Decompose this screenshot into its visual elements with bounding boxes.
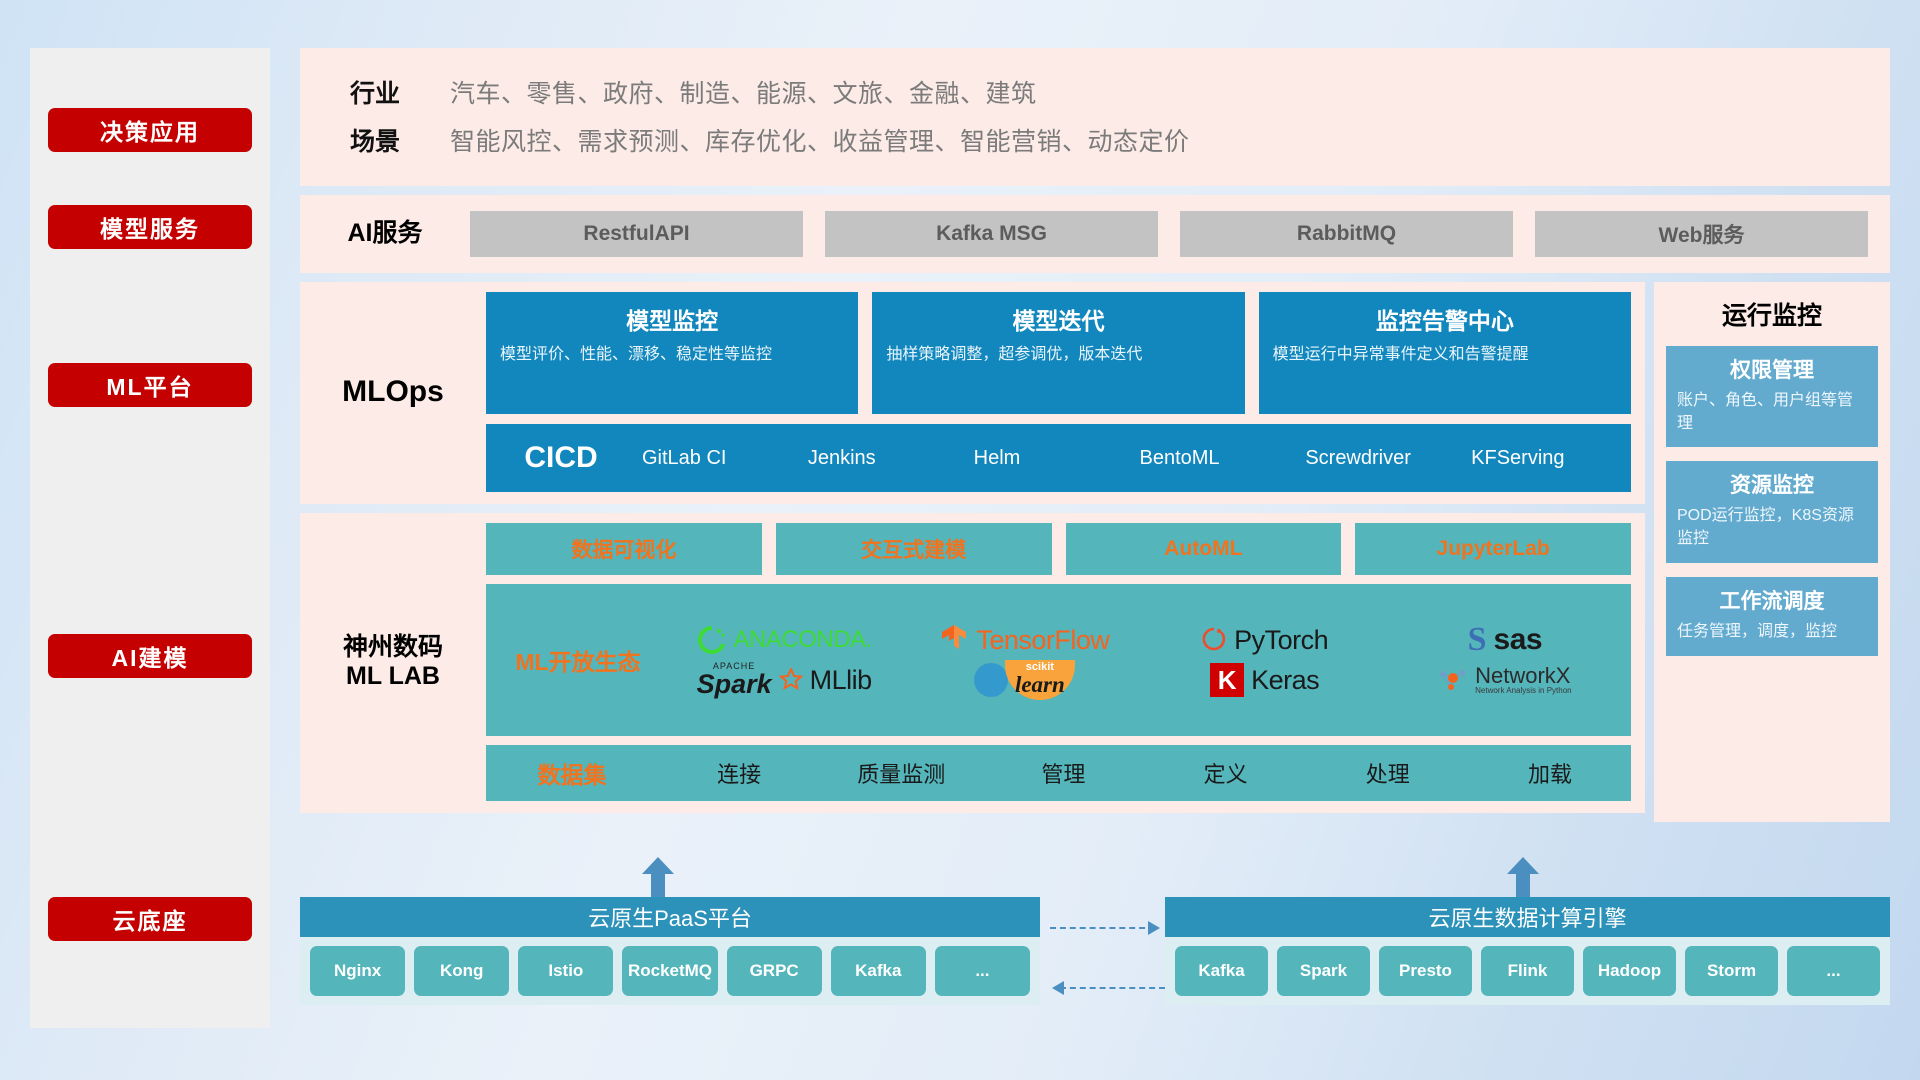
layer-chip-ai-modeling[interactable]: AI建模 xyxy=(48,634,252,678)
application-tag-list: 行业 汽车、零售、政府、制造、能源、文旅、金融、建筑 场景 智能风控、需求预测、… xyxy=(300,68,1890,164)
runtime-monitoring-title: 运行监控 xyxy=(1666,296,1878,332)
compute-up-arrow-icon xyxy=(1505,857,1541,897)
mlops-label: MLOps xyxy=(300,374,486,409)
cicd-item-gitlab-ci[interactable]: GitLab CI xyxy=(636,448,802,469)
cloud-chip-rocketmq[interactable]: RocketMQ xyxy=(622,946,717,996)
cloud-paas-chip-list: Nginx Kong Istio RocketMQ GRPC Kafka ... xyxy=(300,937,1040,1005)
architecture-stack: 行业 汽车、零售、政府、制造、能源、文旅、金融、建筑 场景 智能风控、需求预测、… xyxy=(300,48,1890,822)
connector-arrow-left-icon xyxy=(1048,980,1064,996)
cloud-chip-more-compute[interactable]: ... xyxy=(1787,946,1880,996)
cloud-compute-chip-list: Kafka Spark Presto Flink Hadoop Storm ..… xyxy=(1165,937,1890,1005)
scenario-values: 智能风控、需求预测、库存优化、收益管理、智能营销、动态定价 xyxy=(450,122,1190,158)
ai-modeling-content: 数据可视化 交互式建模 AutoML JupyterLab ML开放生态 xyxy=(486,523,1631,801)
pytorch-logo-text: PyTorch xyxy=(1234,625,1328,656)
sas-mark-icon: S xyxy=(1468,621,1487,659)
layer-chip-model-service[interactable]: 模型服务 xyxy=(48,205,252,249)
cloud-chip-kafka-compute[interactable]: Kafka xyxy=(1175,946,1268,996)
cloud-chip-kafka[interactable]: Kafka xyxy=(831,946,926,996)
scenario-row: 场景 智能风控、需求预测、库存优化、收益管理、智能营销、动态定价 xyxy=(300,116,1890,164)
scikit-blue-circle-icon xyxy=(974,663,1008,697)
cloud-chip-flink[interactable]: Flink xyxy=(1481,946,1574,996)
mlops-card-desc: 模型运行中异常事件定义和告警提醒 xyxy=(1273,344,1617,367)
modeling-tool-list: 数据可视化 交互式建模 AutoML JupyterLab xyxy=(486,523,1631,575)
sas-logo-text: sas xyxy=(1494,623,1543,657)
platform-and-modeling-area: MLOps 模型监控 模型评价、性能、漂移、稳定性等监控 模型迭代 抽样策略调整… xyxy=(300,282,1890,822)
ai-service-chip-web[interactable]: Web服务 xyxy=(1535,211,1868,257)
cicd-item-list: GitLab CI Jenkins Helm BentoML Screwdriv… xyxy=(636,448,1631,469)
tool-chip-interactive-modeling[interactable]: 交互式建模 xyxy=(776,523,1052,575)
mlops-band: MLOps 模型监控 模型评价、性能、漂移、稳定性等监控 模型迭代 抽样策略调整… xyxy=(300,282,1645,504)
mlops-card-desc: 模型评价、性能、漂移、稳定性等监控 xyxy=(500,344,844,367)
mlops-card-model-monitoring[interactable]: 模型监控 模型评价、性能、漂移、稳定性等监控 xyxy=(486,292,858,414)
ml-lab-label: 神州数码 ML LAB xyxy=(300,633,486,692)
cloud-chip-istio[interactable]: Istio xyxy=(518,946,613,996)
mlops-card-desc: 抽样策略调整，超参调优，版本迭代 xyxy=(886,344,1230,367)
ops-card-title: 权限管理 xyxy=(1677,354,1867,384)
mllib-logo-text: MLlib xyxy=(810,665,872,696)
dataset-title: 数据集 xyxy=(486,756,658,790)
networkx-logo-text: NetworkX xyxy=(1475,664,1572,687)
mlops-content: 模型监控 模型评价、性能、漂移、稳定性等监控 模型迭代 抽样策略调整，超参调优，… xyxy=(486,292,1631,492)
platform-and-modeling-column: MLOps 模型监控 模型评价、性能、漂移、稳定性等监控 模型迭代 抽样策略调整… xyxy=(300,282,1645,822)
scikit-learn-logo: scikit learn xyxy=(974,660,1075,700)
anaconda-logo-text: ANACONDA. xyxy=(734,626,872,654)
networkx-logo: NetworkX Network Analysis in Python xyxy=(1438,664,1572,695)
dataset-item-load[interactable]: 加载 xyxy=(1469,757,1631,789)
layer-chip-ml-platform[interactable]: ML平台 xyxy=(48,363,252,407)
ai-service-band: AI服务 RestfulAPI Kafka MSG RabbitMQ Web服务 xyxy=(300,195,1890,273)
cloud-chip-nginx[interactable]: Nginx xyxy=(310,946,405,996)
sas-logo: S sas xyxy=(1468,621,1542,659)
industry-label: 行业 xyxy=(300,74,450,110)
connector-dash-top xyxy=(1050,927,1155,929)
networkx-mark-icon xyxy=(1438,666,1468,694)
connector-arrow-right-icon xyxy=(1148,920,1164,936)
ai-service-chip-kafka-msg[interactable]: Kafka MSG xyxy=(825,211,1158,257)
cloud-chip-spark[interactable]: Spark xyxy=(1277,946,1370,996)
mlops-card-list: 模型监控 模型评价、性能、漂移、稳定性等监控 模型迭代 抽样策略调整，超参调优，… xyxy=(486,292,1631,414)
dataset-item-list: 连接 质量监测 管理 定义 处理 加载 xyxy=(658,757,1631,789)
cloud-group-paas: 云原生PaaS平台 Nginx Kong Istio RocketMQ GRPC… xyxy=(300,897,1040,1005)
ai-service-label: AI服务 xyxy=(300,219,470,249)
tensorflow-logo-text: TensorFlow xyxy=(976,625,1109,656)
anaconda-logo: ANACONDA. xyxy=(697,625,872,655)
tensorflow-mark-icon xyxy=(939,623,969,657)
cicd-item-helm[interactable]: Helm xyxy=(968,448,1134,469)
cicd-item-bentoml[interactable]: BentoML xyxy=(1133,448,1299,469)
cloud-group-compute: 云原生数据计算引擎 Kafka Spark Presto Flink Hadoo… xyxy=(1165,897,1890,1005)
ops-card-desc: 账户、角色、用户组等管理 xyxy=(1677,390,1867,435)
layer-rail: 决策应用 模型服务 ML平台 AI建模 云底座 xyxy=(30,48,270,1028)
ops-card-desc: 任务管理，调度，监控 xyxy=(1677,621,1867,644)
dataset-bar: 数据集 连接 质量监测 管理 定义 处理 加载 xyxy=(486,745,1631,801)
learn-logo-text: learn xyxy=(1015,673,1065,696)
scenario-label: 场景 xyxy=(300,122,450,158)
cloud-paas-title: 云原生PaaS平台 xyxy=(300,897,1040,937)
mlops-card-title: 模型监控 xyxy=(500,302,844,336)
mlops-card-title: 监控告警中心 xyxy=(1273,302,1617,336)
cicd-bar: CICD GitLab CI Jenkins Helm BentoML Scre… xyxy=(486,424,1631,492)
ml-ecosystem-bar: ML开放生态 ANACONDA. xyxy=(486,584,1631,736)
connector-dash-bottom xyxy=(1060,987,1165,989)
keras-mark-icon: K xyxy=(1210,663,1244,697)
spark-star-icon xyxy=(779,668,803,692)
cicd-item-kfserving[interactable]: KFServing xyxy=(1465,448,1631,469)
industry-row: 行业 汽车、零售、政府、制造、能源、文旅、金融、建筑 xyxy=(300,68,1890,116)
spark-logo-text: Spark xyxy=(697,671,772,698)
ops-card-desc: POD运行监控，K8S资源监控 xyxy=(1677,505,1867,550)
dataset-item-process[interactable]: 处理 xyxy=(1307,757,1469,789)
cloud-chip-grpc[interactable]: GRPC xyxy=(727,946,822,996)
anaconda-mark-icon xyxy=(697,625,727,655)
networkx-subtitle: Network Analysis in Python xyxy=(1475,687,1572,695)
ops-card-title: 工作流调度 xyxy=(1677,585,1867,615)
mlops-card-title: 模型迭代 xyxy=(886,302,1230,336)
cicd-item-jenkins[interactable]: Jenkins xyxy=(802,448,968,469)
ai-modeling-band: 神州数码 ML LAB 数据可视化 交互式建模 AutoML JupyterLa… xyxy=(300,513,1645,813)
cloud-chip-storm[interactable]: Storm xyxy=(1685,946,1778,996)
dataset-item-quality-monitor[interactable]: 质量监测 xyxy=(820,757,982,789)
ml-lab-label-line1: 神州数码 xyxy=(300,633,486,663)
cloud-chip-kong[interactable]: Kong xyxy=(414,946,509,996)
ai-service-chip-list: RestfulAPI Kafka MSG RabbitMQ Web服务 xyxy=(470,211,1868,257)
spark-mllib-logo: APACHE Spark MLlib xyxy=(697,662,872,698)
paas-up-arrow-icon xyxy=(640,857,676,897)
cloud-chip-presto[interactable]: Presto xyxy=(1379,946,1472,996)
pytorch-logo: PyTorch xyxy=(1201,625,1328,656)
ops-card-permission-management[interactable]: 权限管理 账户、角色、用户组等管理 xyxy=(1666,346,1878,447)
ml-lab-label-line2: ML LAB xyxy=(300,662,486,692)
tool-chip-automl[interactable]: AutoML xyxy=(1066,523,1342,575)
ops-card-resource-monitoring[interactable]: 资源监控 POD运行监控，K8S资源监控 xyxy=(1666,461,1878,562)
tool-chip-data-visualization[interactable]: 数据可视化 xyxy=(486,523,762,575)
dataset-item-connect[interactable]: 连接 xyxy=(658,757,820,789)
cicd-title: CICD xyxy=(486,441,636,475)
industry-values: 汽车、零售、政府、制造、能源、文旅、金融、建筑 xyxy=(450,74,1037,110)
cloud-base-zone: 云原生PaaS平台 Nginx Kong Istio RocketMQ GRPC… xyxy=(300,885,1890,1030)
tool-chip-jupyterlab[interactable]: JupyterLab xyxy=(1355,523,1631,575)
keras-logo: K Keras xyxy=(1210,663,1319,697)
runtime-monitoring-panel: 运行监控 权限管理 账户、角色、用户组等管理 资源监控 POD运行监控，K8S资… xyxy=(1654,282,1890,822)
mlops-card-alert-center[interactable]: 监控告警中心 模型运行中异常事件定义和告警提醒 xyxy=(1259,292,1631,414)
layer-chip-cloud-base[interactable]: 云底座 xyxy=(48,897,252,941)
mlops-card-model-iteration[interactable]: 模型迭代 抽样策略调整，超参调优，版本迭代 xyxy=(872,292,1244,414)
cloud-chip-more[interactable]: ... xyxy=(935,946,1030,996)
ops-card-workflow-scheduling[interactable]: 工作流调度 任务管理，调度，监控 xyxy=(1666,577,1878,656)
keras-logo-text: Keras xyxy=(1251,665,1319,696)
dataset-item-manage[interactable]: 管理 xyxy=(982,757,1144,789)
pytorch-mark-icon xyxy=(1201,625,1227,655)
cloud-chip-hadoop[interactable]: Hadoop xyxy=(1583,946,1676,996)
layer-chip-decision[interactable]: 决策应用 xyxy=(48,108,252,152)
dataset-item-define[interactable]: 定义 xyxy=(1145,757,1307,789)
cloud-compute-title: 云原生数据计算引擎 xyxy=(1165,897,1890,937)
decision-applications-band: 行业 汽车、零售、政府、制造、能源、文旅、金融、建筑 场景 智能风控、需求预测、… xyxy=(300,48,1890,186)
ops-card-title: 资源监控 xyxy=(1677,469,1867,499)
tensorflow-logo: TensorFlow xyxy=(939,623,1109,657)
cicd-item-screwdriver[interactable]: Screwdriver xyxy=(1299,448,1465,469)
ml-ecosystem-title: ML开放生态 xyxy=(492,643,664,677)
ai-service-chip-restfulapi[interactable]: RestfulAPI xyxy=(470,211,803,257)
ai-service-chip-rabbitmq[interactable]: RabbitMQ xyxy=(1180,211,1513,257)
ml-ecosystem-logo-grid: ANACONDA. TensorFlow xyxy=(664,620,1625,700)
